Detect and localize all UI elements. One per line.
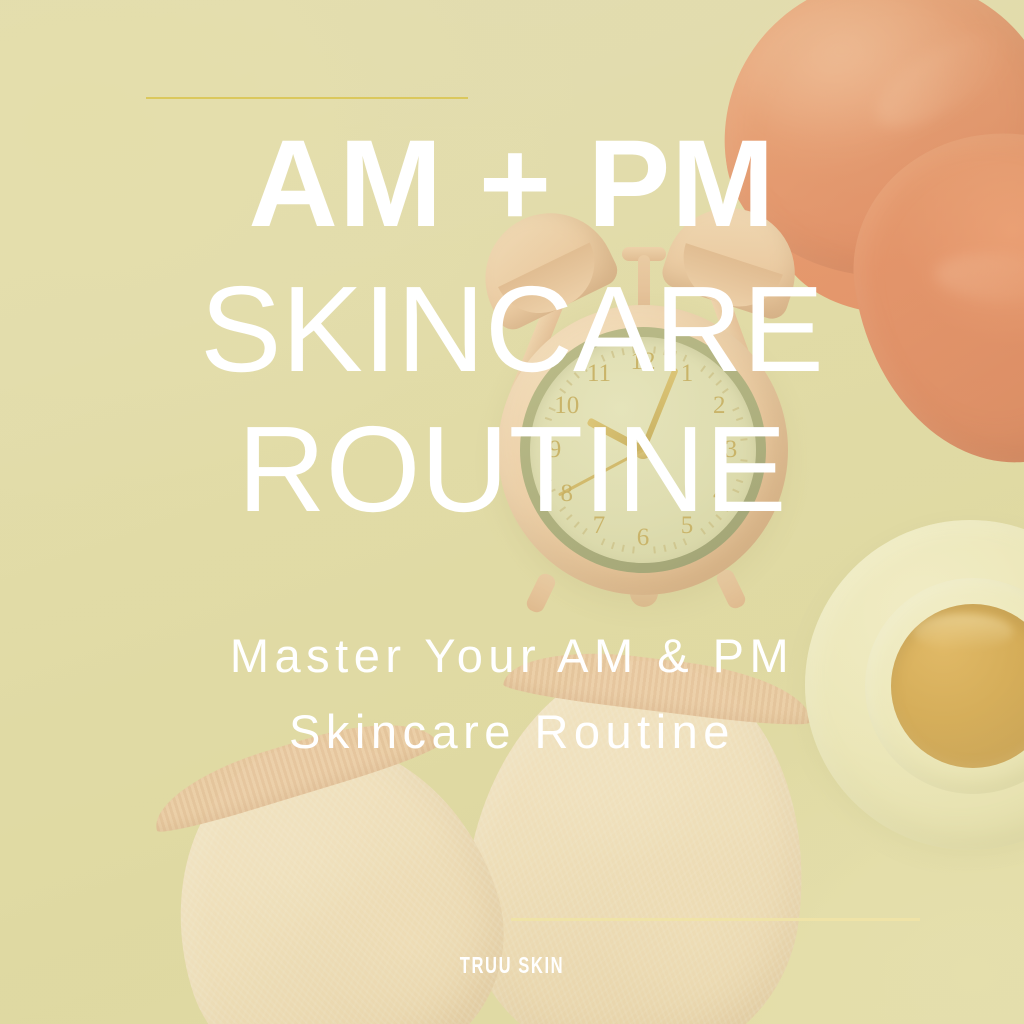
brand-logo: TRUU SKIN: [143, 952, 880, 979]
bottom-divider: [511, 918, 920, 921]
page-title: AM + PM SKINCARE ROUTINE: [0, 122, 1024, 530]
subtitle: Master Your AM & PM Skincare Routine: [0, 618, 1024, 770]
skincare-routine-poster: 121234567891011 AM + PM: [0, 0, 1024, 1024]
subtitle-line-1: Master Your AM & PM: [0, 618, 1024, 694]
headline-line-2: SKINCARE: [0, 268, 1024, 390]
poster-content: AM + PM SKINCARE ROUTINE Master Your AM …: [0, 0, 1024, 1024]
headline-line-1: AM + PM: [0, 122, 1024, 246]
top-divider: [146, 97, 468, 99]
subtitle-line-2: Skincare Routine: [0, 694, 1024, 770]
headline-line-3: ROUTINE: [0, 408, 1024, 530]
